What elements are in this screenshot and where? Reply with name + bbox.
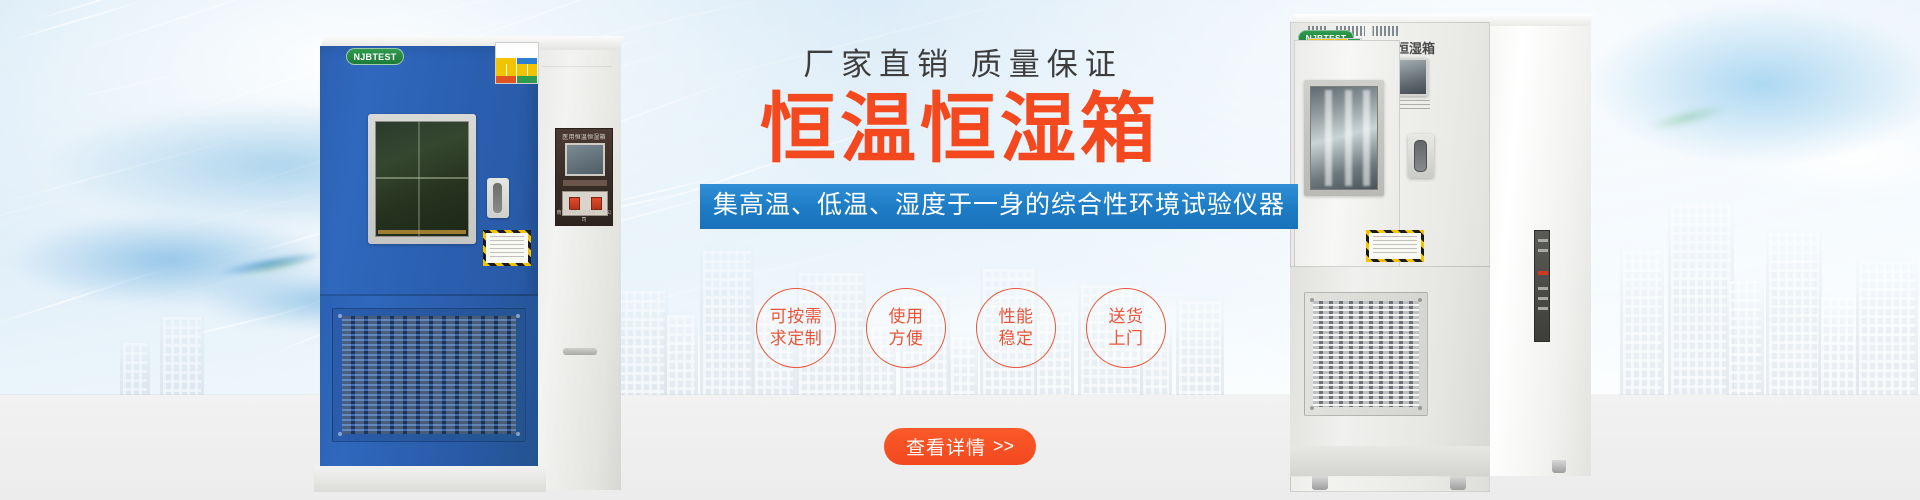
left-machine-panel-footer: 南京贝帝试验设备有限公司 bbox=[556, 209, 612, 223]
left-machine-window-glass bbox=[375, 121, 469, 237]
main-headline: 恒温恒湿箱 bbox=[700, 90, 1220, 170]
view-details-button[interactable]: 查看详情 >> bbox=[884, 428, 1036, 465]
left-machine-hazard-label bbox=[483, 230, 531, 266]
left-machine-side-seam bbox=[542, 66, 612, 67]
right-machine-side-control-strip[interactable] bbox=[1534, 230, 1550, 342]
right-machine-window-glass bbox=[1310, 86, 1378, 190]
right-machine-viewing-window bbox=[1304, 80, 1384, 196]
right-machine-skirt bbox=[1290, 446, 1490, 476]
feature-badge-2[interactable]: 使用 方便 bbox=[866, 288, 946, 368]
feature-badge-1-line1: 可按需 bbox=[770, 306, 823, 328]
left-machine-brand-logo: NJBTEST bbox=[346, 48, 404, 65]
feature-badge-1-line2: 求定制 bbox=[770, 328, 823, 350]
right-machine-foot-right bbox=[1450, 476, 1466, 490]
product-banner: NJBTEST bbox=[0, 0, 1920, 500]
feature-badge-2-line2: 方便 bbox=[889, 328, 924, 350]
subtitle-bar: 集高温、低温、湿度于一身的综合性环境试验仪器 bbox=[700, 184, 1298, 229]
kicker-text: 厂家直销 质量保证 bbox=[706, 48, 1220, 82]
right-machine-door-handle bbox=[1408, 134, 1434, 178]
left-machine-warning-sticker bbox=[495, 42, 539, 84]
feature-badge-4-line1: 送货 bbox=[1109, 306, 1144, 328]
view-details-label: 查看详情 bbox=[906, 433, 986, 460]
left-machine-base bbox=[314, 466, 546, 492]
right-machine-foot-left bbox=[1312, 476, 1328, 490]
left-product-chamber: NJBTEST bbox=[320, 36, 620, 500]
left-machine-door-handle bbox=[487, 178, 509, 218]
headline-block: 厂家直销 质量保证 恒温恒湿箱 集高温、低温、湿度于一身的综合性环境试验仪器 bbox=[700, 48, 1220, 229]
left-machine-window-sill bbox=[378, 230, 466, 234]
left-machine-control-panel: 医用恒温恒湿箱 南京贝帝试验设备有限公司 bbox=[555, 128, 613, 226]
feature-badge-2-line1: 使用 bbox=[889, 306, 924, 328]
feature-badge-row: 可按需 求定制 使用 方便 性能 稳定 送货 上门 bbox=[756, 288, 1166, 368]
right-machine-vent-grille bbox=[1304, 292, 1428, 416]
feature-badge-3-line1: 性能 bbox=[999, 306, 1034, 328]
left-machine-side-handle bbox=[563, 348, 597, 355]
right-machine-hazard-label bbox=[1366, 230, 1424, 262]
left-machine-viewing-window bbox=[368, 114, 476, 244]
feature-badge-3[interactable]: 性能 稳定 bbox=[976, 288, 1056, 368]
left-machine-vent-grille bbox=[332, 308, 526, 442]
double-chevron-right-icon: >> bbox=[993, 436, 1014, 457]
left-machine-panel-strip bbox=[563, 180, 607, 186]
right-product-chamber: NJBTEST bbox=[1290, 14, 1590, 500]
feature-badge-4[interactable]: 送货 上门 bbox=[1086, 288, 1166, 368]
right-machine-foot-rear bbox=[1552, 460, 1566, 473]
left-machine-panel-title: 医用恒温恒湿箱 bbox=[556, 132, 612, 141]
feature-badge-3-line2: 稳定 bbox=[999, 328, 1034, 350]
left-machine-side-panel bbox=[534, 36, 621, 490]
left-machine-panel-lcd[interactable] bbox=[565, 143, 605, 176]
feature-badge-1[interactable]: 可按需 求定制 bbox=[756, 288, 836, 368]
feature-badge-4-line2: 上门 bbox=[1109, 328, 1144, 350]
